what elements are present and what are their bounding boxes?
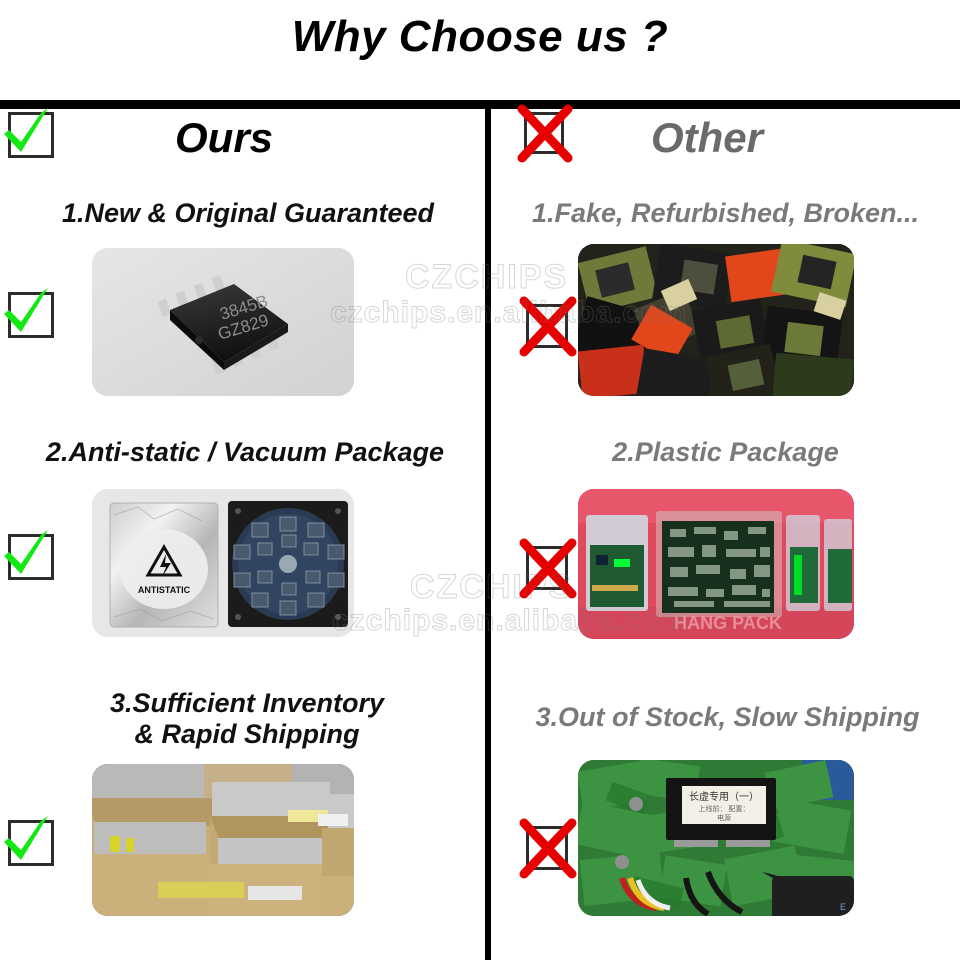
scrap-chips-illustration (578, 244, 854, 396)
svg-text:长虚专用（一）: 长虚专用（一） (689, 790, 759, 803)
stocked-cartons-photo (92, 764, 354, 916)
column-divider-rule (485, 105, 491, 960)
check-glyph (8, 112, 54, 158)
cross-glyph (526, 826, 568, 870)
svg-text:上线前： 配置：: 上线前： 配置： (699, 804, 750, 813)
check-glyph (8, 292, 54, 338)
cross-icon (526, 304, 568, 348)
cross-icon (524, 112, 564, 154)
cartons-illustration (92, 764, 354, 916)
feature-caption-left-1: 1.New & Original Guaranteed (18, 198, 478, 229)
feature-caption-left-3-line2: & Rapid Shipping (22, 719, 472, 750)
plastic-bagged-pcb-photo: HANG PACK (578, 489, 854, 639)
cross-icon (526, 546, 568, 590)
check-icon (8, 112, 54, 158)
soic-chip-photo: 3845B GZ829 (92, 248, 354, 396)
check-icon (8, 292, 54, 338)
antistatic-package-illustration: ANTISTATIC (92, 489, 354, 637)
scrap-pcb-illustration: 长虚专用（一） 上线前： 配置： 电源 E (578, 760, 854, 916)
check-icon (8, 534, 54, 580)
column-header-ours: Ours (0, 108, 485, 170)
cross-icon (526, 826, 568, 870)
feature-caption-left-3: 3.Sufficient Inventory & Rapid Shipping (22, 688, 472, 750)
feature-caption-right-1: 1.Fake, Refurbished, Broken... (498, 198, 953, 229)
plastic-package-overlay-text: HANG PACK (674, 613, 782, 633)
scrap-chips-pile-photo (578, 244, 854, 396)
why-choose-us-comparison-graphic: Why Choose us ? Ours Other 1.New & Origi… (0, 0, 960, 960)
antistatic-bag-and-reel-photo: ANTISTATIC (92, 489, 354, 637)
soic-chip-illustration: 3845B GZ829 (92, 248, 354, 396)
plastic-package-illustration: HANG PACK (578, 489, 854, 639)
scrap-pcb-pile-photo: 长虚专用（一） 上线前： 配置： 电源 E (578, 760, 854, 916)
svg-text:E: E (840, 902, 846, 912)
feature-caption-right-3: 3.Out of Stock, Slow Shipping (495, 702, 960, 733)
page-title: Why Choose us ? (0, 12, 960, 62)
cross-glyph (526, 546, 568, 590)
cross-glyph (524, 112, 564, 154)
column-header-ours-label: Ours (175, 108, 273, 168)
antistatic-bag-label: ANTISTATIC (138, 585, 191, 595)
check-glyph (8, 534, 54, 580)
svg-text:电源: 电源 (717, 813, 731, 822)
feature-caption-right-2: 2.Plastic Package (498, 437, 953, 468)
cross-glyph (526, 304, 568, 348)
feature-caption-left-2: 2.Anti-static / Vacuum Package (10, 437, 480, 468)
check-icon (8, 820, 54, 866)
column-header-other-label: Other (651, 108, 763, 168)
feature-caption-left-3-line1: 3.Sufficient Inventory (22, 688, 472, 719)
check-glyph (8, 820, 54, 866)
